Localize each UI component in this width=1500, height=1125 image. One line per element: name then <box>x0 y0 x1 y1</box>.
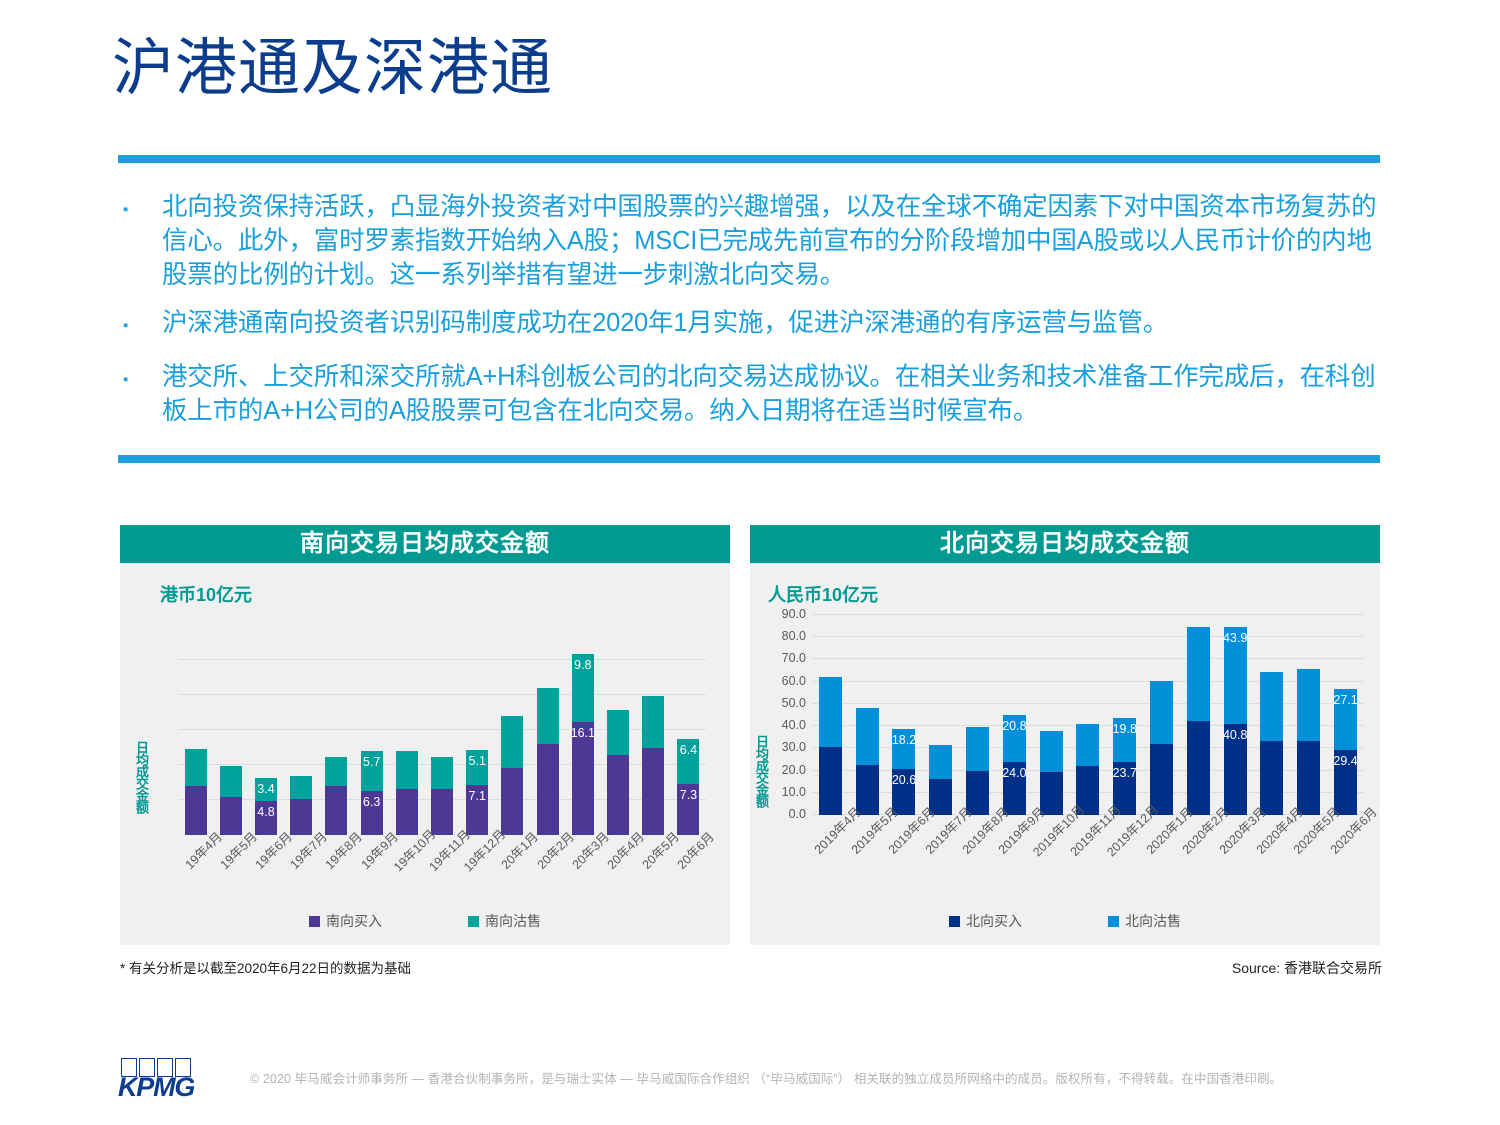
bar-segment-sell: 3.4 <box>255 778 277 802</box>
bar-slot[interactable]: 5.17.1 <box>460 625 495 835</box>
bar-segment-buy <box>1040 772 1063 815</box>
kpmg-logo: KPMG <box>118 1058 214 1104</box>
divider-top <box>118 155 1380 163</box>
legend-item[interactable]: 北向沽售 <box>1108 911 1181 931</box>
stacked-bar[interactable] <box>856 708 879 815</box>
x-label-slot: 20年6月 <box>671 839 706 909</box>
x-label-slot: 2019年11月 <box>1070 819 1107 889</box>
bar-slot[interactable] <box>1143 615 1180 815</box>
x-axis-labels-northbound: 2019年4月2019年5月2019年6月2019年7月2019年8月2019年… <box>812 819 1364 889</box>
bar-segment-buy <box>642 748 664 835</box>
stacked-bar[interactable] <box>819 677 842 815</box>
y-axis-tick: 90.0 <box>782 607 806 621</box>
x-label-slot: 19年5月 <box>213 839 248 909</box>
stacked-bar[interactable] <box>537 688 559 835</box>
stacked-bar[interactable]: 3.44.8 <box>255 778 277 835</box>
x-label-slot: 2020年2月 <box>1180 819 1217 889</box>
bullet-text: 北向投资保持活跃，凸显海外投资者对中国股票的兴趣增强，以及在全球不确定因素下对中… <box>162 190 1388 292</box>
legend-swatch-icon <box>309 916 320 927</box>
stacked-bar[interactable] <box>290 776 312 835</box>
bar-segment-buy <box>185 786 207 835</box>
data-label: 5.1 <box>469 754 486 768</box>
bar-segment-buy: 29.4 <box>1334 750 1357 815</box>
data-label: 23.7 <box>1113 766 1137 780</box>
x-label-slot: 19年11月 <box>424 839 459 909</box>
legend-swatch-icon <box>1108 916 1119 927</box>
x-label-slot: 2019年6月 <box>886 819 923 889</box>
bar-slot[interactable] <box>319 625 354 835</box>
data-label: 19.8 <box>1113 722 1137 736</box>
bar-slot[interactable] <box>389 625 424 835</box>
stacked-bar[interactable] <box>1040 731 1063 815</box>
x-label-slot: 19年10月 <box>389 839 424 909</box>
stacked-bar[interactable] <box>1187 627 1210 815</box>
data-label: 9.8 <box>574 658 591 672</box>
bar-segment-sell: 20.8 <box>1003 715 1026 761</box>
bar-segment-sell <box>642 696 664 748</box>
data-label: 7.1 <box>469 789 486 803</box>
bar-slot[interactable] <box>213 625 248 835</box>
x-label-slot: 20年3月 <box>565 839 600 909</box>
bar-segment-buy <box>325 786 347 835</box>
bar-slot[interactable] <box>922 615 959 815</box>
legend-northbound: 北向买入北向沽售 <box>750 911 1380 931</box>
bar-segment-sell <box>856 708 879 765</box>
bar-slot[interactable]: 27.129.4 <box>1327 615 1364 815</box>
stacked-bar[interactable] <box>431 757 453 835</box>
legend-item[interactable]: 南向买入 <box>309 911 382 931</box>
bar-slot[interactable]: 19.823.7 <box>1106 615 1143 815</box>
data-label: 43.9 <box>1223 631 1247 645</box>
y-axis-tick: 70.0 <box>782 651 806 665</box>
bar-segment-buy <box>501 768 523 835</box>
stacked-bar[interactable]: 5.17.1 <box>466 750 488 835</box>
data-label: 7.3 <box>680 788 697 802</box>
x-label-slot: 2019年10月 <box>1033 819 1070 889</box>
bar-segment-sell <box>1187 627 1210 720</box>
bar-segment-buy <box>607 755 629 835</box>
stacked-bar[interactable] <box>929 745 952 815</box>
x-label-slot: 2019年7月 <box>922 819 959 889</box>
stacked-bar[interactable] <box>501 716 523 835</box>
bar-segment-sell <box>929 745 952 779</box>
bar-segment-buy <box>819 747 842 815</box>
y-axis-tick: 40.0 <box>782 718 806 732</box>
bar-slot[interactable]: 18.220.6 <box>886 615 923 815</box>
bar-segment-buy: 40.8 <box>1224 724 1247 815</box>
bar-segment-sell: 9.8 <box>572 654 594 723</box>
stacked-bar[interactable] <box>325 757 347 835</box>
y-axis-tick: 80.0 <box>782 629 806 643</box>
bar-slot[interactable] <box>1070 615 1107 815</box>
bar-segment-buy <box>1260 741 1283 815</box>
source-label: Source: 香港联合交易所 <box>1232 958 1382 978</box>
bar-segment-sell <box>1076 724 1099 766</box>
stacked-bar[interactable]: 9.816.1 <box>572 654 594 835</box>
bar-segment-buy: 16.1 <box>572 722 594 835</box>
bar-segment-sell <box>396 751 418 789</box>
plot-area-southbound: 3.44.85.76.35.17.19.816.16.47.3 <box>178 625 706 835</box>
bar-segment-buy <box>431 789 453 835</box>
bar-segment-buy <box>1297 741 1320 815</box>
stacked-bar[interactable]: 20.824.0 <box>1003 715 1026 815</box>
bar-slot[interactable] <box>284 625 319 835</box>
bar-segment-sell: 5.1 <box>466 750 488 786</box>
list-item: ▪ 沪深港通南向投资者识别码制度成功在2020年1月实施，促进沪深港通的有序运营… <box>118 306 1388 346</box>
stacked-bar[interactable] <box>642 696 664 835</box>
data-label: 20.8 <box>1002 719 1026 733</box>
bar-slot[interactable]: 6.47.3 <box>671 625 706 835</box>
bar-slot[interactable] <box>1290 615 1327 815</box>
page-title: 沪港通及深港通 <box>112 34 553 103</box>
stacked-bar[interactable] <box>966 727 989 815</box>
bar-slot[interactable] <box>495 625 530 835</box>
data-label: 40.8 <box>1223 728 1247 742</box>
x-label-slot: 2019年12月 <box>1106 819 1143 889</box>
x-label-slot: 20年2月 <box>530 839 565 909</box>
bar-segment-sell <box>1040 731 1063 771</box>
x-label-slot: 2020年6月 <box>1327 819 1364 889</box>
list-item: ▪ 北向投资保持活跃，凸显海外投资者对中国股票的兴趣增强，以及在全球不确定因素下… <box>118 190 1388 292</box>
bar-slot[interactable]: 43.940.8 <box>1217 615 1254 815</box>
chart-panel-northbound: 北向交易日均成交金额 人民币10亿元 日均成交金额 0.010.020.030.… <box>750 525 1380 945</box>
footer-copyright: © 2020 毕马威会计师事务所 — 香港合伙制事务所，是与瑞士实体 — 毕马威… <box>250 1068 1410 1087</box>
kpmg-logo-text: KPMG <box>118 1072 194 1103</box>
x-label-slot: 19年4月 <box>178 839 213 909</box>
data-label: 24.0 <box>1002 766 1026 780</box>
y-axis-tick: 30.0 <box>782 740 806 754</box>
legend-label: 北向买入 <box>966 911 1022 931</box>
plot-area-northbound: 0.010.020.030.040.050.060.070.080.090.01… <box>812 615 1364 815</box>
stacked-bar[interactable] <box>1297 669 1320 815</box>
y-axis-tick: 0.0 <box>789 807 806 821</box>
stacked-bar[interactable]: 19.823.7 <box>1113 718 1136 815</box>
y-axis-tick: 60.0 <box>782 674 806 688</box>
slide: 沪港通及深港通 ▪ 北向投资保持活跃，凸显海外投资者对中国股票的兴趣增强，以及在… <box>0 0 1500 1125</box>
bar-slot[interactable] <box>812 615 849 815</box>
stacked-bar[interactable] <box>1076 724 1099 815</box>
legend-label: 南向沽售 <box>485 911 541 931</box>
chart-title-southbound: 南向交易日均成交金额 <box>120 525 730 563</box>
bar-segment-buy: 24.0 <box>1003 762 1026 815</box>
x-label-slot: 2020年5月 <box>1290 819 1327 889</box>
bullet-marker-icon: ▪ <box>118 190 162 292</box>
bullet-list: ▪ 北向投资保持活跃，凸显海外投资者对中国股票的兴趣增强，以及在全球不确定因素下… <box>118 190 1388 442</box>
legend-label: 北向沽售 <box>1125 911 1181 931</box>
x-label-slot: 19年8月 <box>319 839 354 909</box>
stacked-bar[interactable] <box>185 749 207 835</box>
bar-segment-sell <box>220 766 242 796</box>
bar-segment-sell <box>819 677 842 747</box>
bar-segment-sell <box>501 716 523 768</box>
y-axis-title-southbound: 日均成交金额 <box>132 741 151 813</box>
legend-swatch-icon <box>468 916 479 927</box>
data-label: 27.1 <box>1333 693 1357 707</box>
bullet-marker-icon: ▪ <box>118 360 162 428</box>
bar-segment-sell: 27.1 <box>1334 689 1357 749</box>
bar-slot[interactable] <box>636 625 671 835</box>
bar-segment-buy: 6.3 <box>361 791 383 835</box>
bar-segment-buy <box>396 789 418 835</box>
bullet-text: 港交所、上交所和深交所就A+H科创板公司的北向交易达成协议。在相关业务和技术准备… <box>162 360 1388 428</box>
bar-slot[interactable] <box>178 625 213 835</box>
bar-slot[interactable]: 3.44.8 <box>248 625 283 835</box>
chart-unit-southbound: 港币10亿元 <box>160 581 252 607</box>
bar-slot[interactable] <box>1180 615 1217 815</box>
bar-slot[interactable] <box>530 625 565 835</box>
y-axis-tick: 10.0 <box>782 785 806 799</box>
bar-segment-sell: 43.9 <box>1224 627 1247 725</box>
stacked-bar[interactable]: 18.220.6 <box>892 729 915 815</box>
x-label-slot: 19年9月 <box>354 839 389 909</box>
bar-segment-sell <box>325 757 347 786</box>
chart-body-northbound: 人民币10亿元 日均成交金额 0.010.020.030.040.050.060… <box>750 563 1380 945</box>
data-label: 18.2 <box>892 733 916 747</box>
data-label: 29.4 <box>1333 754 1357 768</box>
x-label-slot: 20年4月 <box>600 839 635 909</box>
x-label-slot: 2019年8月 <box>959 819 996 889</box>
x-label-slot: 19年6月 <box>248 839 283 909</box>
x-label-slot: 20年5月 <box>636 839 671 909</box>
x-axis-labels-southbound: 19年4月19年5月19年6月19年7月19年8月19年9月19年10月19年1… <box>178 839 706 909</box>
chart-body-southbound: 港币10亿元 日均成交金额 3.44.85.76.35.17.19.816.16… <box>120 563 730 945</box>
x-label-slot: 2020年3月 <box>1217 819 1254 889</box>
bar-segment-sell: 6.4 <box>677 739 699 784</box>
bar-group: 18.220.620.824.019.823.743.940.827.129.4 <box>812 615 1364 815</box>
bar-segment-sell <box>1297 669 1320 741</box>
x-label-slot: 2020年4月 <box>1254 819 1291 889</box>
footnote: * 有关分析是以截至2020年6月22日的数据为基础 <box>120 957 411 977</box>
bar-segment-sell: 5.7 <box>361 751 383 791</box>
bar-slot[interactable]: 9.816.1 <box>565 625 600 835</box>
y-axis-tick: 50.0 <box>782 696 806 710</box>
data-label: 6.4 <box>680 743 697 757</box>
bar-segment-sell <box>537 688 559 744</box>
bullet-text: 沪深港通南向投资者识别码制度成功在2020年1月实施，促进沪深港通的有序运营与监… <box>162 306 1388 346</box>
x-label-slot: 20年1月 <box>495 839 530 909</box>
stacked-bar[interactable] <box>1260 672 1283 815</box>
data-label: 20.6 <box>892 773 916 787</box>
stacked-bar[interactable] <box>607 710 629 835</box>
bar-slot[interactable]: 5.76.3 <box>354 625 389 835</box>
bar-slot[interactable] <box>849 615 886 815</box>
chart-title-northbound: 北向交易日均成交金额 <box>750 525 1380 563</box>
bar-segment-sell: 19.8 <box>1113 718 1136 762</box>
bar-segment-buy: 20.6 <box>892 769 915 815</box>
bar-segment-buy: 7.1 <box>466 785 488 835</box>
stacked-bar[interactable] <box>396 751 418 835</box>
bar-segment-sell <box>290 776 312 798</box>
bar-segment-buy <box>220 797 242 836</box>
bar-segment-buy <box>537 744 559 835</box>
bar-segment-sell <box>1150 681 1173 744</box>
bar-slot[interactable]: 20.824.0 <box>996 615 1033 815</box>
stacked-bar[interactable] <box>1150 681 1173 815</box>
bar-segment-sell <box>185 749 207 786</box>
legend-item[interactable]: 南向沽售 <box>468 911 541 931</box>
bar-segment-sell <box>966 727 989 770</box>
bar-slot[interactable] <box>1254 615 1291 815</box>
chart-unit-northbound: 人民币10亿元 <box>768 581 878 607</box>
x-label-slot: 2019年4月 <box>812 819 849 889</box>
divider-bottom <box>118 455 1380 463</box>
bar-segment-sell <box>1260 672 1283 740</box>
data-label: 16.1 <box>571 726 595 740</box>
stacked-bar[interactable]: 5.76.3 <box>361 751 383 835</box>
x-label-slot: 2019年9月 <box>996 819 1033 889</box>
legend-item[interactable]: 北向买入 <box>949 911 1022 931</box>
x-label-slot: 19年12月 <box>460 839 495 909</box>
data-label: 4.8 <box>257 805 274 819</box>
stacked-bar[interactable]: 43.940.8 <box>1224 627 1247 815</box>
legend-southbound: 南向买入南向沽售 <box>120 911 730 931</box>
bar-slot[interactable] <box>1033 615 1070 815</box>
stacked-bar[interactable] <box>220 766 242 835</box>
bar-segment-buy <box>856 765 879 815</box>
stacked-bar[interactable]: 27.129.4 <box>1334 689 1357 815</box>
data-label: 5.7 <box>363 755 380 769</box>
list-item: ▪ 港交所、上交所和深交所就A+H科创板公司的北向交易达成协议。在相关业务和技术… <box>118 360 1388 428</box>
bullet-marker-icon: ▪ <box>118 306 162 346</box>
chart-panel-southbound: 南向交易日均成交金额 港币10亿元 日均成交金额 3.44.85.76.35.1… <box>120 525 730 945</box>
legend-label: 南向买入 <box>326 911 382 931</box>
bar-slot[interactable] <box>959 615 996 815</box>
bar-segment-sell <box>607 710 629 755</box>
data-label: 6.3 <box>363 795 380 809</box>
data-label: 3.4 <box>257 782 274 796</box>
y-axis-title-northbound: 日均成交金额 <box>752 735 771 807</box>
y-axis-tick: 20.0 <box>782 763 806 777</box>
bar-segment-buy: 4.8 <box>255 801 277 835</box>
x-label-slot: 2020年1月 <box>1143 819 1180 889</box>
x-label-slot: 2019年5月 <box>849 819 886 889</box>
bar-segment-buy <box>290 799 312 835</box>
bar-slot[interactable] <box>600 625 635 835</box>
bar-segment-buy <box>1187 721 1210 815</box>
bar-segment-sell <box>431 757 453 789</box>
bar-segment-buy: 7.3 <box>677 784 699 835</box>
bar-segment-sell: 18.2 <box>892 729 915 769</box>
x-label-slot: 19年7月 <box>284 839 319 909</box>
bar-group: 3.44.85.76.35.17.19.816.16.47.3 <box>178 625 706 835</box>
stacked-bar[interactable]: 6.47.3 <box>677 739 699 835</box>
legend-swatch-icon <box>949 916 960 927</box>
bar-slot[interactable] <box>424 625 459 835</box>
